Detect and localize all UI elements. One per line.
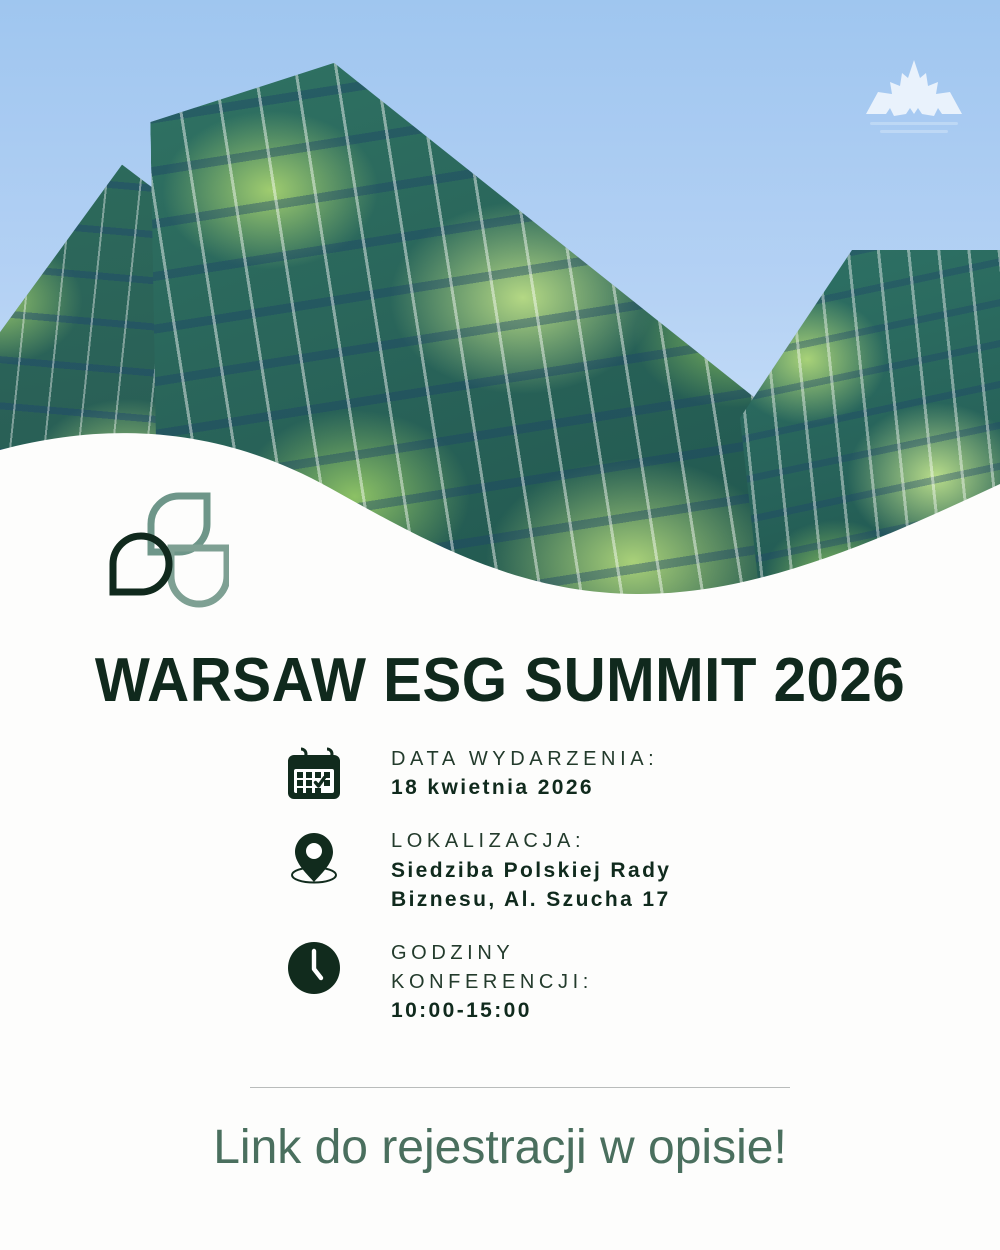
location-pin-icon — [286, 829, 342, 887]
details-list: DATA WYDARZENIA: 18 kwietnia 2026 LOKALI… — [0, 745, 1000, 1050]
detail-label-location: LOKALIZACJA: — [391, 827, 671, 855]
overlapping-leaves-logo-icon — [105, 490, 229, 608]
clock-icon-wrap — [285, 939, 343, 995]
registration-cta: Link do rejestracji w opisie! — [0, 1120, 1000, 1175]
page-title: WARSAW ESG SUMMIT 2026 — [30, 650, 970, 712]
esg-summit-poster: WARSAW ESG SUMMIT 2026 — [0, 0, 1000, 1250]
clock-icon — [287, 941, 341, 995]
detail-text-location: LOKALIZACJA: Siedziba Polskiej Rady Bizn… — [343, 827, 671, 915]
maple-leaf-watermark-icon — [854, 52, 974, 142]
detail-value-hours: 10:00-15:00 — [391, 996, 593, 1026]
detail-text-hours: GODZINY KONFERENCJI: 10:00-15:00 — [343, 939, 593, 1026]
detail-label-date: DATA WYDARZENIA: — [391, 745, 658, 773]
section-divider — [250, 1087, 790, 1088]
location-pin-icon-wrap — [285, 827, 343, 887]
detail-label-hours: GODZINY KONFERENCJI: — [391, 939, 593, 996]
detail-row-date: DATA WYDARZENIA: 18 kwietnia 2026 — [0, 745, 1000, 803]
detail-value-location: Siedziba Polskiej Rady Biznesu, Al. Szuc… — [391, 856, 671, 916]
detail-row-hours: GODZINY KONFERENCJI: 10:00-15:00 — [0, 939, 1000, 1026]
calendar-icon-wrap — [285, 745, 343, 801]
detail-value-date: 18 kwietnia 2026 — [391, 773, 658, 803]
calendar-icon — [286, 747, 342, 801]
detail-text-date: DATA WYDARZENIA: 18 kwietnia 2026 — [343, 745, 658, 803]
detail-row-location: LOKALIZACJA: Siedziba Polskiej Rady Bizn… — [0, 827, 1000, 915]
